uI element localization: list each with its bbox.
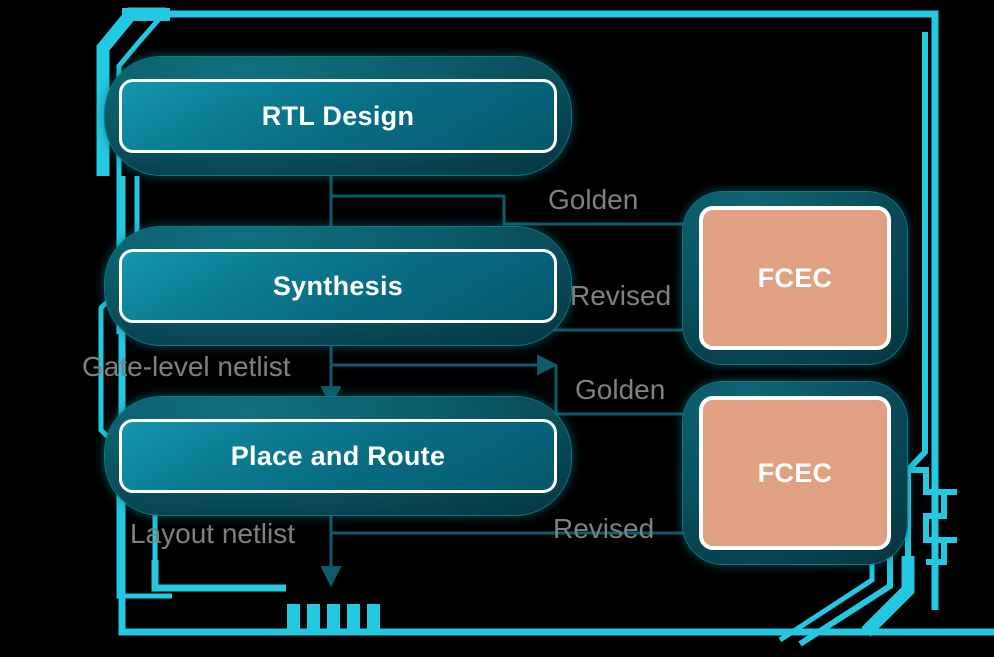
check-inner-fcec-bottom: FCEC: [699, 396, 891, 550]
process-inner-rtl-design: RTL Design: [119, 79, 557, 153]
check-label-fcec-bottom: FCEC: [758, 458, 833, 489]
check-block-fcec-bottom[interactable]: FCEC: [683, 382, 907, 564]
diagram-canvas: RTL Design Synthesis Place and Route FCE…: [0, 0, 994, 657]
process-block-place-and-route[interactable]: Place and Route: [105, 397, 571, 515]
edge-label-golden-bottom: Golden: [575, 376, 665, 404]
check-block-fcec-top[interactable]: FCEC: [683, 192, 907, 364]
edge-label-revised-top: Revised: [570, 282, 671, 310]
process-label-place-and-route: Place and Route: [231, 441, 446, 472]
process-inner-synthesis: Synthesis: [119, 249, 557, 323]
edge-label-gate-level-netlist: Gate-level netlist: [82, 353, 291, 381]
process-inner-place-and-route: Place and Route: [119, 419, 557, 493]
edge-label-revised-bottom: Revised: [553, 515, 654, 543]
edge-label-layout-netlist: Layout netlist: [130, 520, 295, 548]
process-label-rtl-design: RTL Design: [262, 101, 415, 132]
check-label-fcec-top: FCEC: [758, 263, 833, 294]
process-label-synthesis: Synthesis: [273, 271, 403, 302]
process-block-synthesis[interactable]: Synthesis: [105, 227, 571, 345]
process-block-rtl-design[interactable]: RTL Design: [105, 57, 571, 175]
check-inner-fcec-top: FCEC: [699, 206, 891, 350]
edge-label-golden-top: Golden: [548, 186, 638, 214]
